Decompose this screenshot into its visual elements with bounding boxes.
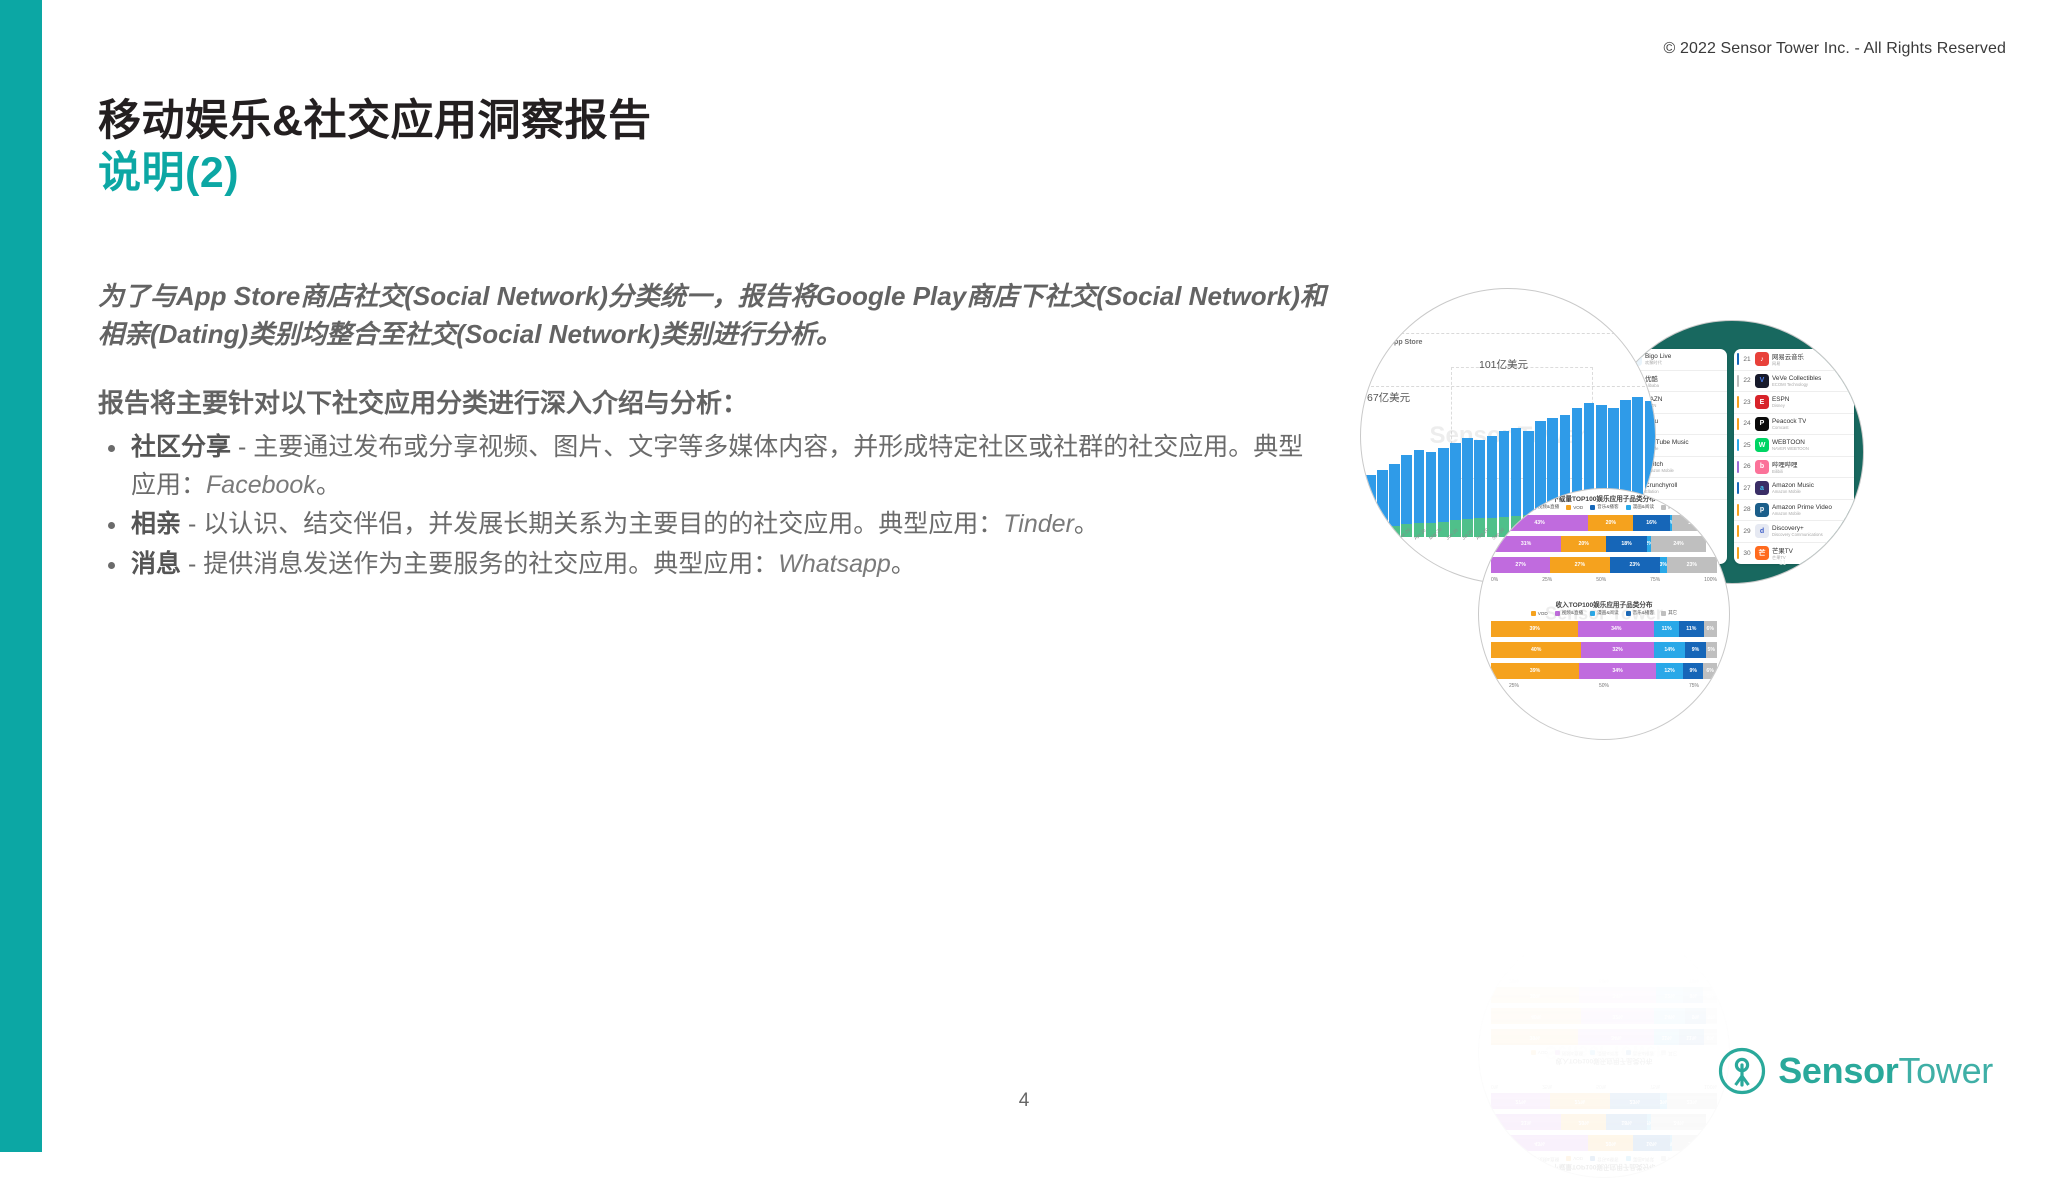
legend-label: 音乐&播客 (1597, 504, 1618, 510)
stacked-bar-segment: 39% (1491, 1029, 1578, 1045)
reflection-circle: 下载量TOP100娱乐应用子品类分布视频&直播VOD音乐&播客漫画&阅读其它43… (1478, 926, 1730, 1178)
sensor-tower-watermark: Sensor Tower (1545, 1042, 1663, 1063)
app-publisher: Bilibili (1772, 469, 1798, 474)
stacked-bar-segment: 11% (1679, 1029, 1704, 1045)
legend-entry: 漫画&阅读 (1626, 1156, 1654, 1162)
bar-column (1450, 443, 1461, 537)
stacked-bar-row: 43%20%16%1%19% (1491, 1135, 1717, 1151)
stacked-bar-segment: 27% (1491, 557, 1550, 573)
stacked-bar-row: 40%32%14%9%5% (1491, 642, 1717, 658)
bullet-app: Facebook (206, 471, 316, 499)
legend-label: VOD (1538, 611, 1548, 616)
app-name: ESPN (1772, 396, 1789, 403)
rank-number: 24 (1742, 420, 1752, 427)
list-item: 社区分享 - 主要通过发布或分享视频、图片、文字等多媒体内容，并形成特定社区或社… (98, 429, 1328, 504)
legend-swatch (1626, 611, 1631, 616)
rank-change-indicator (1737, 461, 1739, 473)
stacked-charts-inner: 下载量TOP100娱乐应用子品类分布视频&直播VOD音乐&播客漫画&阅读其它43… (1479, 489, 1729, 739)
stacked-bar-segment: 14% (1654, 642, 1686, 658)
legend-swatch (1566, 505, 1571, 510)
ranking-row: 26b哔哩哔哩Bilibili (1734, 457, 1854, 479)
chart-store-label: App Store (1389, 339, 1422, 346)
stacked-bar-segment: 18% (1606, 536, 1647, 552)
rank-change-indicator (1737, 482, 1739, 494)
app-name: Discovery+ (1772, 525, 1823, 532)
stacked-bar-segment: 18% (1606, 1114, 1647, 1130)
stacked-bar-segment: 24% (1651, 1114, 1705, 1130)
bullet-app: Whatsapp (778, 550, 891, 578)
stacked-chart-legend: VOD视频&直播漫画&阅读音乐&播客其它 (1479, 610, 1729, 616)
legend-swatch (1626, 1157, 1631, 1162)
axis-tick-label: 0% (1491, 1083, 1498, 1089)
app-text-block: VeVe CollectiblesECOMI Technology (1772, 375, 1821, 387)
stacked-bar-row: 39%34%11%11%6% (1491, 621, 1717, 637)
lead-paragraph: 报告将主要针对以下社交应用分类进行深入介绍与分析： (98, 385, 1328, 423)
stacked-bar-segment: 6% (1704, 1029, 1717, 1045)
decorative-chart-cluster: 下载量TOP100娱乐应用子品类分布视频&直播VOD音乐&播客漫画&阅读其它43… (1360, 288, 1920, 748)
sensor-tower-wordmark: SensorTower (1778, 1050, 1993, 1092)
app-publisher: NAVER WEBTOON (1772, 446, 1809, 451)
bullet-desc: - 以认识、结交伴侣，并发展长期关系为主要目的的社交应用。典型应用： (181, 510, 1003, 538)
stacked-bar-segment: 14% (1654, 1008, 1686, 1024)
axis-tick-label: 50% (1599, 683, 1609, 689)
stacked-bar-segment: 20% (1561, 1114, 1606, 1130)
app-name: Amazon Music (1772, 482, 1814, 489)
stacked-chart-rows: 43%20%16%1%19%31%20%18%2%24%27%27%23%3%2… (1491, 515, 1717, 578)
stacked-bar-segment: 9% (1685, 1008, 1705, 1024)
stacked-bar-segment: 5% (1706, 642, 1717, 658)
bar-segment-upper (1414, 450, 1425, 523)
legend-entry: VOD (1531, 1050, 1548, 1056)
bar-segment-upper (1462, 438, 1473, 520)
app-text-block: 哔哩哔哩Bilibili (1772, 460, 1798, 474)
app-publisher: 网易 (1772, 361, 1804, 367)
legend-label: 其它 (1668, 1156, 1677, 1162)
page-title-sub: 说明(2) (98, 149, 652, 199)
stacked-bar-row: 31%20%18%2%24% (1491, 1114, 1717, 1130)
cluster-reflection: 下载量TOP100娱乐应用子品类分布视频&直播VOD音乐&播客漫画&阅读其它43… (1478, 948, 1730, 1178)
app-publisher: Comcast (1772, 425, 1806, 430)
rank-change-indicator (1737, 418, 1739, 430)
stacked-bar-segment: 12% (1656, 663, 1683, 679)
rank-number: 25 (1742, 442, 1752, 449)
ranking-row: 25WWEBTOONNAVER WEBTOON (1734, 435, 1854, 457)
stacked-bar-segment: 40% (1491, 642, 1581, 658)
bullet-app: Tinder (1003, 510, 1074, 538)
rank-change-indicator (1737, 504, 1739, 516)
list-item: 消息 - 提供消息发送作为主要服务的社交应用。典型应用：Whatsapp。 (98, 546, 1328, 584)
app-icon: ♪ (1755, 352, 1769, 366)
stacked-bar-segment: 34% (1578, 621, 1654, 637)
app-icon: a (1755, 481, 1769, 495)
bar-segment-upper (1365, 475, 1376, 528)
slide-root: © 2022 Sensor Tower Inc. - All Rights Re… (0, 0, 2048, 1152)
legend-entry: 其它 (1661, 1050, 1677, 1056)
rank-change-indicator (1737, 353, 1739, 365)
bar-column (1401, 455, 1412, 537)
legend-label: VOD (1538, 1051, 1548, 1056)
app-icon: E (1755, 395, 1769, 409)
ranking-row: 23EESPNDisney (1734, 392, 1854, 414)
app-publisher: Discovery Communications (1772, 532, 1823, 537)
legend-label: 视频&直播 (1538, 1156, 1559, 1162)
bar-column (1426, 452, 1437, 537)
legend-swatch (1661, 1051, 1666, 1056)
bar-segment-upper (1450, 443, 1461, 520)
stacked-bar-segment: 27% (1550, 557, 1609, 573)
axis-tick-label: 25% (1542, 577, 1552, 583)
legend-entry: 视频&直播 (1555, 610, 1583, 616)
bar-column (1414, 450, 1425, 537)
legend-label: 漫画&阅读 (1597, 1050, 1618, 1056)
body-content: 为了与App Store商店社交(Social Network)分类统一，报告将… (98, 278, 1328, 585)
bar-column (1462, 438, 1473, 537)
ranking-badge: 11 (1779, 560, 1786, 567)
axis-tick-label: 25% (1509, 683, 1519, 689)
app-icon: b (1755, 460, 1769, 474)
bar-segment-upper (1377, 470, 1388, 527)
stacked-bar-segment: 12% (1656, 987, 1683, 1003)
bar-segment-upper (1389, 464, 1400, 526)
legend-label: 视频&直播 (1562, 1050, 1583, 1056)
rank-number: 26 (1742, 463, 1752, 470)
axis-tick-label: 100% (1704, 577, 1717, 583)
legend-entry: 音乐&播客 (1626, 1050, 1654, 1056)
sensor-tower-mark-icon (1717, 1046, 1767, 1096)
ranking-row: 22VVeVe CollectiblesECOMI Technology (1734, 371, 1854, 393)
stacked-bar-segment: 6% (1704, 621, 1717, 637)
legend-entry: 其它 (1661, 504, 1677, 510)
stacked-bar-segment: 31% (1491, 536, 1561, 552)
stacked-bar-segment: 9% (1683, 987, 1703, 1003)
stacked-bar-segment: 11% (1679, 621, 1704, 637)
app-publisher: Amazon Mobile (1772, 511, 1832, 516)
bullet-term: 消息 (131, 550, 181, 578)
app-text-block: 网易云音乐网易 (1772, 352, 1804, 367)
bar-column (1389, 464, 1400, 537)
legend-swatch (1566, 1157, 1571, 1162)
stacked-chart-xaxis: 25%50%75% (1509, 977, 1699, 983)
stacked-bar-segment: 23% (1610, 557, 1660, 573)
bar-segment-upper (1401, 455, 1412, 523)
rank-change-indicator (1737, 375, 1739, 387)
legend-swatch (1661, 611, 1666, 616)
legend-swatch (1531, 505, 1536, 510)
stacked-bar-segment: 6% (1703, 663, 1717, 679)
app-icon: d (1755, 524, 1769, 538)
legend-entry: 漫画&阅读 (1590, 1050, 1618, 1056)
legend-entry: 音乐&播客 (1590, 504, 1618, 510)
stacked-chart-xaxis: 0%25%50%75%100% (1491, 577, 1717, 583)
rank-number: 22 (1742, 377, 1752, 384)
legend-label: 音乐&播客 (1597, 1156, 1618, 1162)
category-bullet-list: 社区分享 - 主要通过发布或分享视频、图片、文字等多媒体内容，并形成特定社区或社… (98, 429, 1328, 583)
app-icon: 芒 (1755, 546, 1769, 560)
app-publisher: Amazon Mobile (1772, 489, 1814, 494)
stacked-chart-legend: 视频&直播VOD音乐&播客漫画&阅读其它 (1479, 1156, 1729, 1162)
stacked-chart-title: 收入TOP100娱乐应用子品类分布 (1479, 1057, 1729, 1067)
stacked-bar-segment: 11% (1654, 1029, 1679, 1045)
stacked-bar-segment: 9% (1685, 642, 1705, 658)
legend-label: 视频&直播 (1538, 504, 1559, 510)
legend-entry: VOD (1566, 1156, 1583, 1162)
bullet-tail: 。 (316, 471, 341, 499)
category-distribution-circle: 下载量TOP100娱乐应用子品类分布视频&直播VOD音乐&播客漫画&阅读其它43… (1478, 488, 1730, 740)
app-text-block: Peacock TVComcast (1772, 418, 1806, 430)
legend-label: 漫画&阅读 (1597, 610, 1618, 616)
sensor-tower-logo: SensorTower (1717, 1046, 1993, 1096)
legend-label: 音乐&播客 (1633, 610, 1654, 616)
legend-swatch (1590, 505, 1595, 510)
ranking-row: 24PPeacock TVComcast (1734, 414, 1854, 436)
stacked-chart-title: 收入TOP100娱乐应用子品类分布 (1479, 599, 1729, 609)
logo-sensor: Sensor (1778, 1050, 1898, 1091)
stacked-bar-segment: 43% (1491, 1135, 1588, 1151)
ranking-row: 30芒芒果TV芒果TV (1734, 543, 1854, 565)
rank-number: 28 (1742, 506, 1752, 513)
stacked-chart-title: 下载量TOP100娱乐应用子品类分布 (1479, 493, 1729, 503)
axis-tick-label: 75% (1689, 977, 1699, 983)
stacked-bar-segment: 20% (1588, 1135, 1633, 1151)
stacked-bar-segment: 40% (1491, 1008, 1581, 1024)
legend-label: VOD (1573, 1157, 1583, 1162)
stacked-bar-segment: 39% (1491, 621, 1578, 637)
stacked-bar-segment: 34% (1578, 1029, 1654, 1045)
axis-tick-label: 75% (1650, 1083, 1660, 1089)
bar-segment-upper (1426, 452, 1437, 523)
rank-change-indicator (1737, 547, 1739, 559)
stacked-chart-rows: 39%34%11%11%6%40%32%14%9%5%39%34%12%9%6% (1491, 982, 1717, 1045)
rank-change-indicator (1737, 396, 1739, 408)
bar-segment-upper (1438, 448, 1449, 522)
legend-swatch (1590, 1051, 1595, 1056)
stacked-bar-segment: 16% (1633, 515, 1669, 531)
stacked-chart-rows: 39%34%11%11%6%40%32%14%9%5%39%34%12%9%6% (1491, 621, 1717, 684)
legend-entry: 音乐&播客 (1626, 610, 1654, 616)
rank-number: 23 (1742, 399, 1752, 406)
legend-entry: 其它 (1661, 1156, 1677, 1162)
legend-label: 音乐&播客 (1633, 1050, 1654, 1056)
legend-swatch (1531, 611, 1536, 616)
app-name: 网易云音乐 (1772, 352, 1804, 361)
app-icon: p (1755, 503, 1769, 517)
app-icon: W (1755, 438, 1769, 452)
legend-swatch (1531, 1157, 1536, 1162)
axis-tick-label: 50% (1596, 1083, 1606, 1089)
stacked-bar-segment: 39% (1491, 987, 1579, 1003)
stacked-bar-segment: 16% (1633, 1135, 1669, 1151)
stacked-bar-row: 39%34%12%9%6% (1491, 663, 1717, 679)
stacked-bar-segment: 11% (1654, 621, 1679, 637)
page-title-main: 移动娱乐&社交应用洞察报告 (98, 97, 652, 147)
app-name: WEBTOON (1772, 439, 1809, 446)
bar-column (1377, 470, 1388, 537)
axis-tick-label: 50% (1596, 577, 1606, 583)
stacked-bar-segment: 6% (1703, 987, 1717, 1003)
legend-label: 视频&直播 (1562, 610, 1583, 616)
ranking-row: 27aAmazon MusicAmazon Mobile (1734, 478, 1854, 500)
stacked-bar-row: 40%32%14%9%5% (1491, 1008, 1717, 1024)
legend-swatch (1555, 611, 1560, 616)
axis-tick-label: 75% (1650, 577, 1660, 583)
legend-label: 其它 (1668, 610, 1677, 616)
stacked-bar-row: 43%20%16%1%19% (1491, 515, 1717, 531)
legend-swatch (1590, 611, 1595, 616)
legend-entry: 视频&直播 (1531, 1156, 1559, 1162)
rank-number: 27 (1742, 485, 1752, 492)
legend-label: 其它 (1668, 1050, 1677, 1056)
stacked-bar-segment: 23% (1667, 557, 1717, 573)
legend-label: 其它 (1668, 504, 1677, 510)
legend-entry: 视频&直播 (1531, 504, 1559, 510)
annotation-total-upper: 101亿美元 (1479, 357, 1528, 372)
ranking-row: 21♪网易云音乐网易 (1734, 349, 1854, 371)
rank-number: 29 (1742, 528, 1752, 535)
stacked-bar-row: 39%34%11%11%6% (1491, 1029, 1717, 1045)
ranking-row: 28pAmazon Prime VideoAmazon Mobile (1734, 500, 1854, 522)
legend-swatch (1531, 1051, 1536, 1056)
logo-tower: Tower (1898, 1050, 1993, 1091)
legend-entry: 视频&直播 (1555, 1050, 1583, 1056)
axis-tick-label: 25% (1509, 977, 1519, 983)
rank-change-indicator (1737, 439, 1739, 451)
legend-entry: 漫画&阅读 (1626, 504, 1654, 510)
bullet-desc: - 提供消息发送作为主要服务的社交应用。典型应用： (181, 550, 778, 578)
app-text-block: Amazon MusicAmazon Mobile (1772, 482, 1814, 494)
legend-swatch (1661, 1157, 1666, 1162)
stacked-chart-legend: VOD视频&直播漫画&阅读音乐&播客其它 (1479, 1050, 1729, 1056)
app-name: VeVe Collectibles (1772, 375, 1821, 382)
axis-tick-label: 75% (1689, 683, 1699, 689)
legend-swatch (1626, 1051, 1631, 1056)
app-text-block: WEBTOONNAVER WEBTOON (1772, 439, 1809, 451)
intro-paragraph: 为了与App Store商店社交(Social Network)分类统一，报告将… (98, 278, 1328, 353)
page-title: 移动娱乐&社交应用洞察报告 说明(2) (98, 97, 652, 199)
stacked-bar-segment: 24% (1651, 536, 1705, 552)
ranking-card-right: 21♪网易云音乐网易22VVeVe CollectiblesECOMI Tech… (1734, 349, 1854, 564)
axis-tick-label: 50% (1599, 977, 1609, 983)
stacked-bar-row: 27%27%23%3%23% (1491, 557, 1717, 573)
app-name: 哔哩哔哩 (1772, 460, 1798, 469)
stacked-chart-legend: 视频&直播VOD音乐&播客漫画&阅读其它 (1479, 504, 1729, 510)
stacked-bar-segment: 31% (1491, 1114, 1561, 1130)
legend-swatch (1661, 505, 1666, 510)
app-text-block: Discovery+Discovery Communications (1772, 525, 1823, 537)
stacked-bar-segment: 32% (1581, 1008, 1653, 1024)
stacked-bar-segment: 20% (1588, 515, 1633, 531)
ranking-row: 29dDiscovery+Discovery Communications (1734, 521, 1854, 543)
axis-tick-label: 100% (1704, 1083, 1717, 1089)
gridline-upper (1361, 333, 1655, 334)
legend-entry: 其它 (1661, 610, 1677, 616)
legend-swatch (1626, 505, 1631, 510)
bar-column (1438, 448, 1449, 537)
legend-entry: VOD (1531, 610, 1548, 616)
legend-entry: VOD (1566, 504, 1583, 510)
legend-swatch (1590, 1157, 1595, 1162)
stacked-bar-segment: 5% (1706, 1008, 1717, 1024)
bullet-tail: 。 (1074, 510, 1099, 538)
stacked-bar-segment: 9% (1683, 663, 1703, 679)
app-icon: P (1755, 417, 1769, 431)
app-text-block: ESPNDisney (1772, 396, 1789, 408)
stacked-bar-segment: 43% (1491, 515, 1588, 531)
stacked-bar-segment: 34% (1579, 663, 1656, 679)
stacked-bar-segment: 32% (1581, 642, 1653, 658)
stacked-bar-segment: 19% (1672, 1135, 1715, 1151)
list-item: 相亲 - 以认识、结交伴侣，并发展长期关系为主要目的的社交应用。典型应用：Tin… (98, 506, 1328, 544)
app-name: Amazon Prime Video (1772, 504, 1832, 511)
axis-tick-label: 0% (1491, 577, 1498, 583)
stacked-chart-title: 下载量TOP100娱乐应用子品类分布 (1479, 1163, 1729, 1173)
legend-label: VOD (1573, 505, 1583, 510)
app-name: Peacock TV (1772, 418, 1806, 425)
stacked-bar-row: 39%34%12%9%6% (1491, 987, 1717, 1003)
rank-change-indicator (1737, 525, 1739, 537)
rank-number: 30 (1742, 550, 1752, 557)
legend-label: 漫画&阅读 (1633, 1156, 1654, 1162)
stacked-bar-segment: 1% (1670, 1135, 1672, 1151)
legend-entry: 音乐&播客 (1590, 1156, 1618, 1162)
app-name: 芒果TV (1772, 546, 1793, 555)
reflection-inner: 下载量TOP100娱乐应用子品类分布视频&直播VOD音乐&播客漫画&阅读其它43… (1479, 927, 1729, 1177)
rank-number: 21 (1742, 356, 1752, 363)
legend-swatch (1555, 1051, 1560, 1056)
app-publisher: ECOMI Technology (1772, 382, 1821, 387)
app-text-block: Amazon Prime VideoAmazon Mobile (1772, 504, 1832, 516)
left-accent-bar (0, 0, 42, 1152)
app-publisher: Disney (1772, 403, 1789, 408)
legend-entry: 漫画&阅读 (1590, 610, 1618, 616)
legend-label: 漫画&阅读 (1633, 504, 1654, 510)
stacked-bar-segment: 19% (1672, 515, 1715, 531)
stacked-chart-xaxis: 0%25%50%75%100% (1491, 1083, 1717, 1089)
app-text-block: 芒果TV芒果TV (1772, 546, 1793, 561)
axis-tick-label: 25% (1542, 1083, 1552, 1089)
bullet-term: 相亲 (131, 510, 181, 538)
stacked-bar-segment: 20% (1561, 536, 1606, 552)
stacked-bar-segment: 2% (1647, 1114, 1652, 1130)
stacked-chart-xaxis: 25%50%75% (1509, 683, 1699, 689)
stacked-bar-segment: 39% (1491, 663, 1579, 679)
copyright-notice: © 2022 Sensor Tower Inc. - All Rights Re… (1664, 40, 2006, 58)
app-icon: V (1755, 374, 1769, 388)
bullet-tail: 。 (891, 550, 916, 578)
stacked-bar-row: 31%20%18%2%24% (1491, 536, 1717, 552)
stacked-bar-segment: 34% (1579, 987, 1656, 1003)
bullet-term: 社区分享 (131, 433, 231, 461)
